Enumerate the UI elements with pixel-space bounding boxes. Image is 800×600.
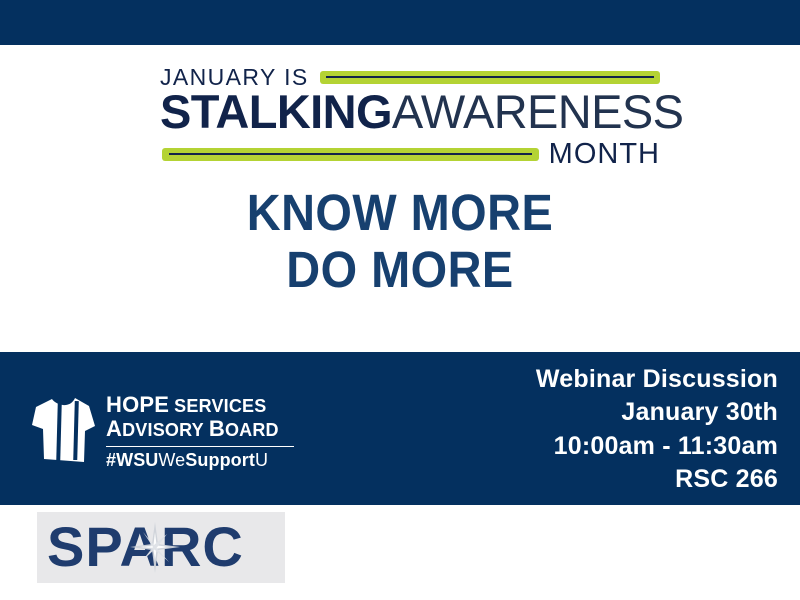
lockup-title-light: AWARENESS [392,88,683,135]
hope-line-1: HOPESERVICES [106,393,300,418]
event-time: 10:00am - 11:30am [358,430,778,463]
sparc-logo-artwork: SPARC [47,518,275,578]
hope-line2-rest: DVISORY [122,420,204,440]
hashtag-part-wsu: #WSU [106,450,158,470]
poster-canvas: JANUARY IS STALKINGAWARENESS MONTH KNOW … [0,0,800,600]
headline-block: KNOW MORE DO MORE [0,184,800,298]
event-location: RSC 266 [358,463,778,496]
lockup-title-bold: STALKING [160,88,392,135]
event-details-block: Webinar Discussion January 30th 10:00am … [358,363,778,496]
tshirt-icon [30,395,96,465]
hope-text-block: HOPESERVICES ADVISORYBOARD #WSUWeSupport… [106,391,300,470]
hope-line1-lead: HOPE [106,392,169,417]
hope-line2-rest2: OARD [225,420,279,440]
event-date: January 30th [358,396,778,429]
green-rule-top-icon [320,71,660,84]
stalking-awareness-lockup: JANUARY IS STALKINGAWARENESS MONTH [160,62,660,170]
lockup-subtitle-row: MONTH [162,140,660,168]
headline-line-2: DO MORE [32,241,768,298]
hope-line2-lead: A [106,416,122,441]
hashtag-part-we: We [158,450,185,470]
hope-line2-lead2: B [204,416,225,441]
hope-line1-rest: SERVICES [169,396,266,416]
green-rule-bottom-icon [162,148,539,161]
hope-line-2: ADVISORYBOARD [106,417,300,442]
headline-line-1: KNOW MORE [32,184,768,241]
event-title: Webinar Discussion [358,363,778,396]
lockup-subtitle-text: MONTH [549,140,660,169]
hashtag-part-support: Support [185,450,255,470]
hashtag-part-u: U [255,450,268,470]
lockup-title-row: STALKINGAWARENESS [160,88,660,140]
top-navy-band [0,0,800,45]
hope-hashtag: #WSUWeSupportU [106,451,300,469]
sparc-logo: SPARC [37,512,285,583]
hope-services-logo: HOPESERVICES ADVISORYBOARD #WSUWeSupport… [30,385,300,475]
hope-divider [106,446,294,448]
